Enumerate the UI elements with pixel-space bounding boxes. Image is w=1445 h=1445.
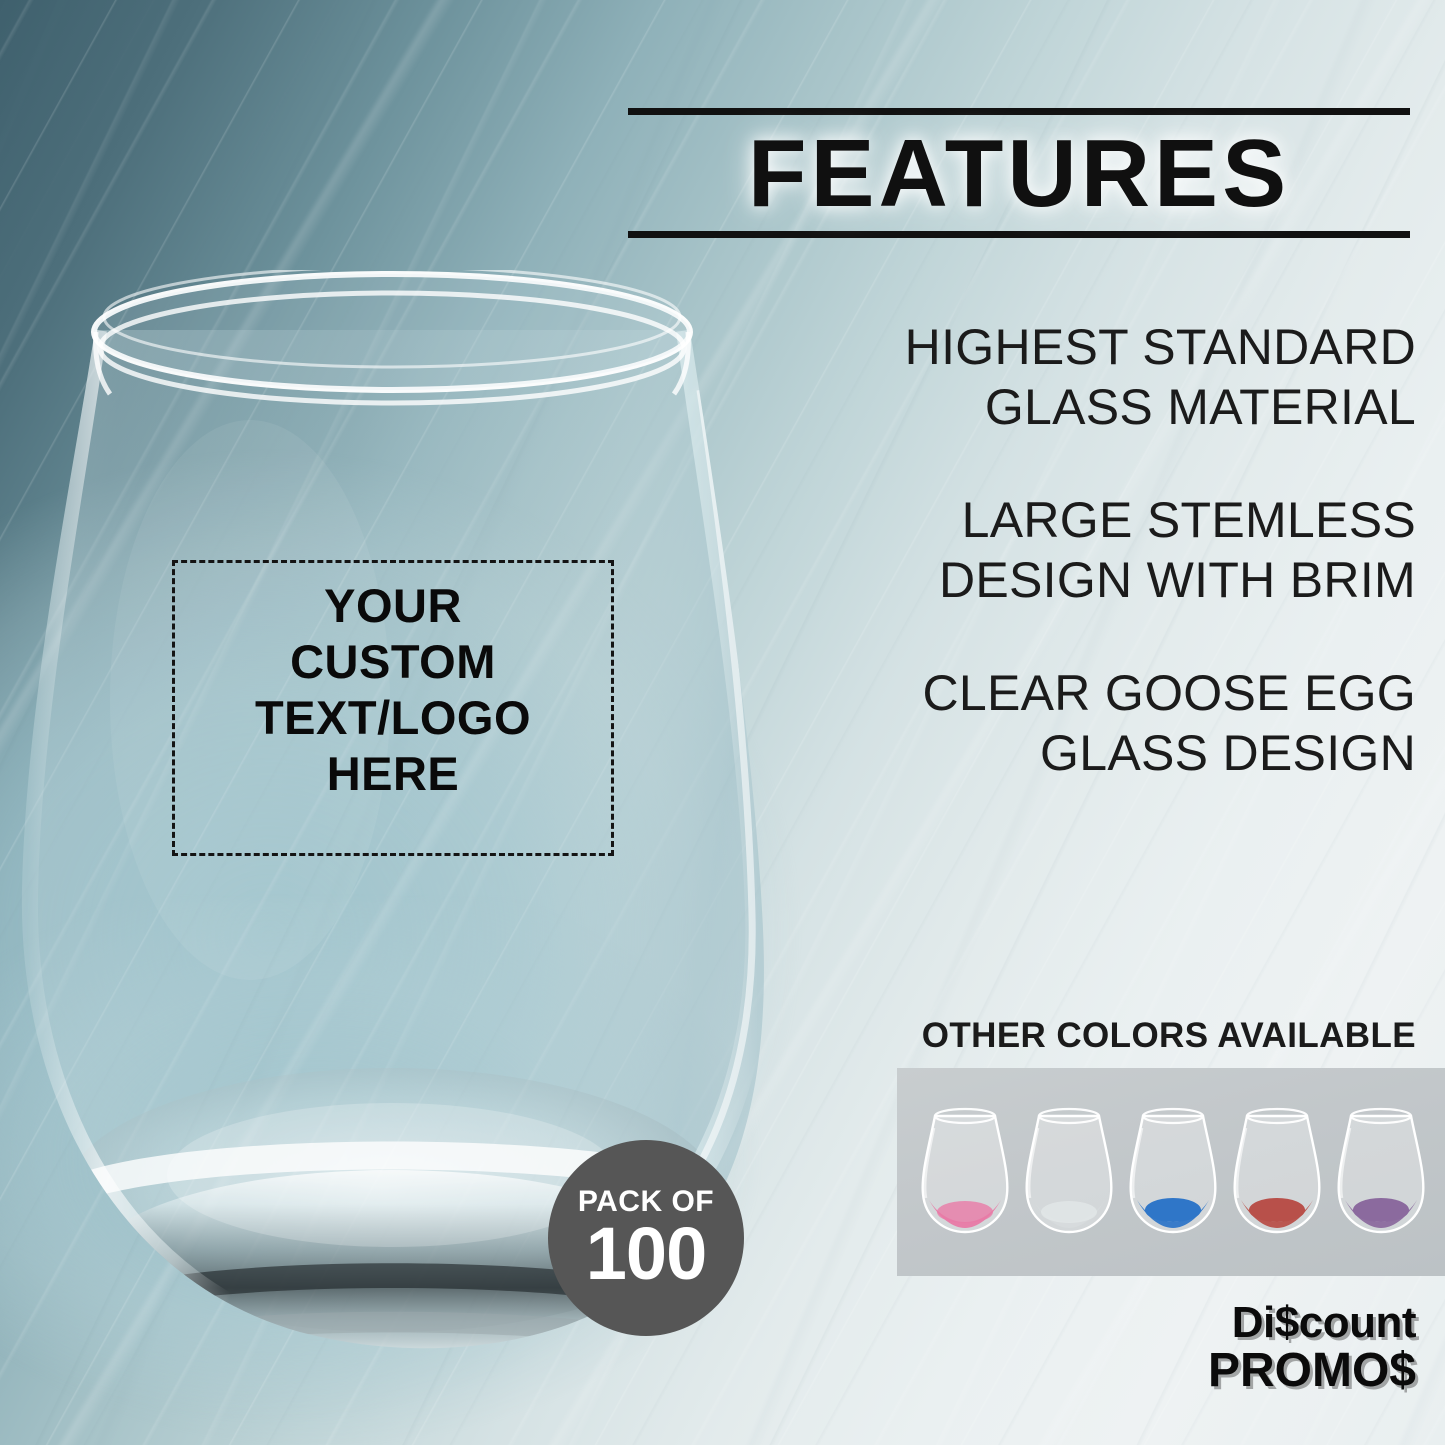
imprint-placeholder-text: YOUR CUSTOM TEXT/LOGO HERE bbox=[172, 578, 614, 802]
color-swatch-panel bbox=[897, 1068, 1445, 1276]
feature-item: HIGHEST STANDARD GLASS MATERIAL bbox=[800, 318, 1416, 437]
imprint-line-2: CUSTOM bbox=[172, 634, 614, 690]
feature-line: CLEAR GOOSE EGG bbox=[800, 664, 1416, 724]
color-swatch-blue bbox=[1127, 1100, 1219, 1238]
product-feature-graphic: YOUR CUSTOM TEXT/LOGO HERE PACK OF 100 F… bbox=[0, 0, 1445, 1445]
feature-line: GLASS DESIGN bbox=[800, 724, 1416, 784]
other-colors-heading: OTHER COLORS AVAILABLE bbox=[800, 1016, 1416, 1056]
imprint-line-3: TEXT/LOGO bbox=[172, 690, 614, 746]
header-rule-top bbox=[628, 108, 1410, 115]
pack-quantity-badge: PACK OF 100 bbox=[548, 1140, 744, 1336]
imprint-line-4: HERE bbox=[172, 746, 614, 802]
brand-logo: Di$count PROMO$ bbox=[960, 1300, 1416, 1396]
imprint-line-1: YOUR bbox=[172, 578, 614, 634]
color-swatch-pink bbox=[919, 1100, 1011, 1238]
features-header: FEATURES bbox=[628, 108, 1410, 238]
page-title: FEATURES bbox=[628, 115, 1410, 231]
brand-logo-line-2: PROMO$ bbox=[960, 1346, 1416, 1396]
color-swatch-row bbox=[897, 1068, 1445, 1276]
color-swatch-clear bbox=[1023, 1100, 1115, 1238]
pack-badge-count: 100 bbox=[586, 1219, 706, 1289]
feature-list: HIGHEST STANDARD GLASS MATERIAL LARGE ST… bbox=[800, 318, 1416, 837]
feature-item: CLEAR GOOSE EGG GLASS DESIGN bbox=[800, 664, 1416, 783]
feature-line: GLASS MATERIAL bbox=[800, 378, 1416, 438]
header-rule-bottom bbox=[628, 231, 1410, 238]
feature-line: DESIGN WITH BRIM bbox=[800, 551, 1416, 611]
brand-logo-line-1: Di$count bbox=[960, 1300, 1416, 1346]
color-swatch-purple bbox=[1335, 1100, 1427, 1238]
feature-line: LARGE STEMLESS bbox=[800, 491, 1416, 551]
feature-line: HIGHEST STANDARD bbox=[800, 318, 1416, 378]
color-swatch-red bbox=[1231, 1100, 1323, 1238]
feature-item: LARGE STEMLESS DESIGN WITH BRIM bbox=[800, 491, 1416, 610]
